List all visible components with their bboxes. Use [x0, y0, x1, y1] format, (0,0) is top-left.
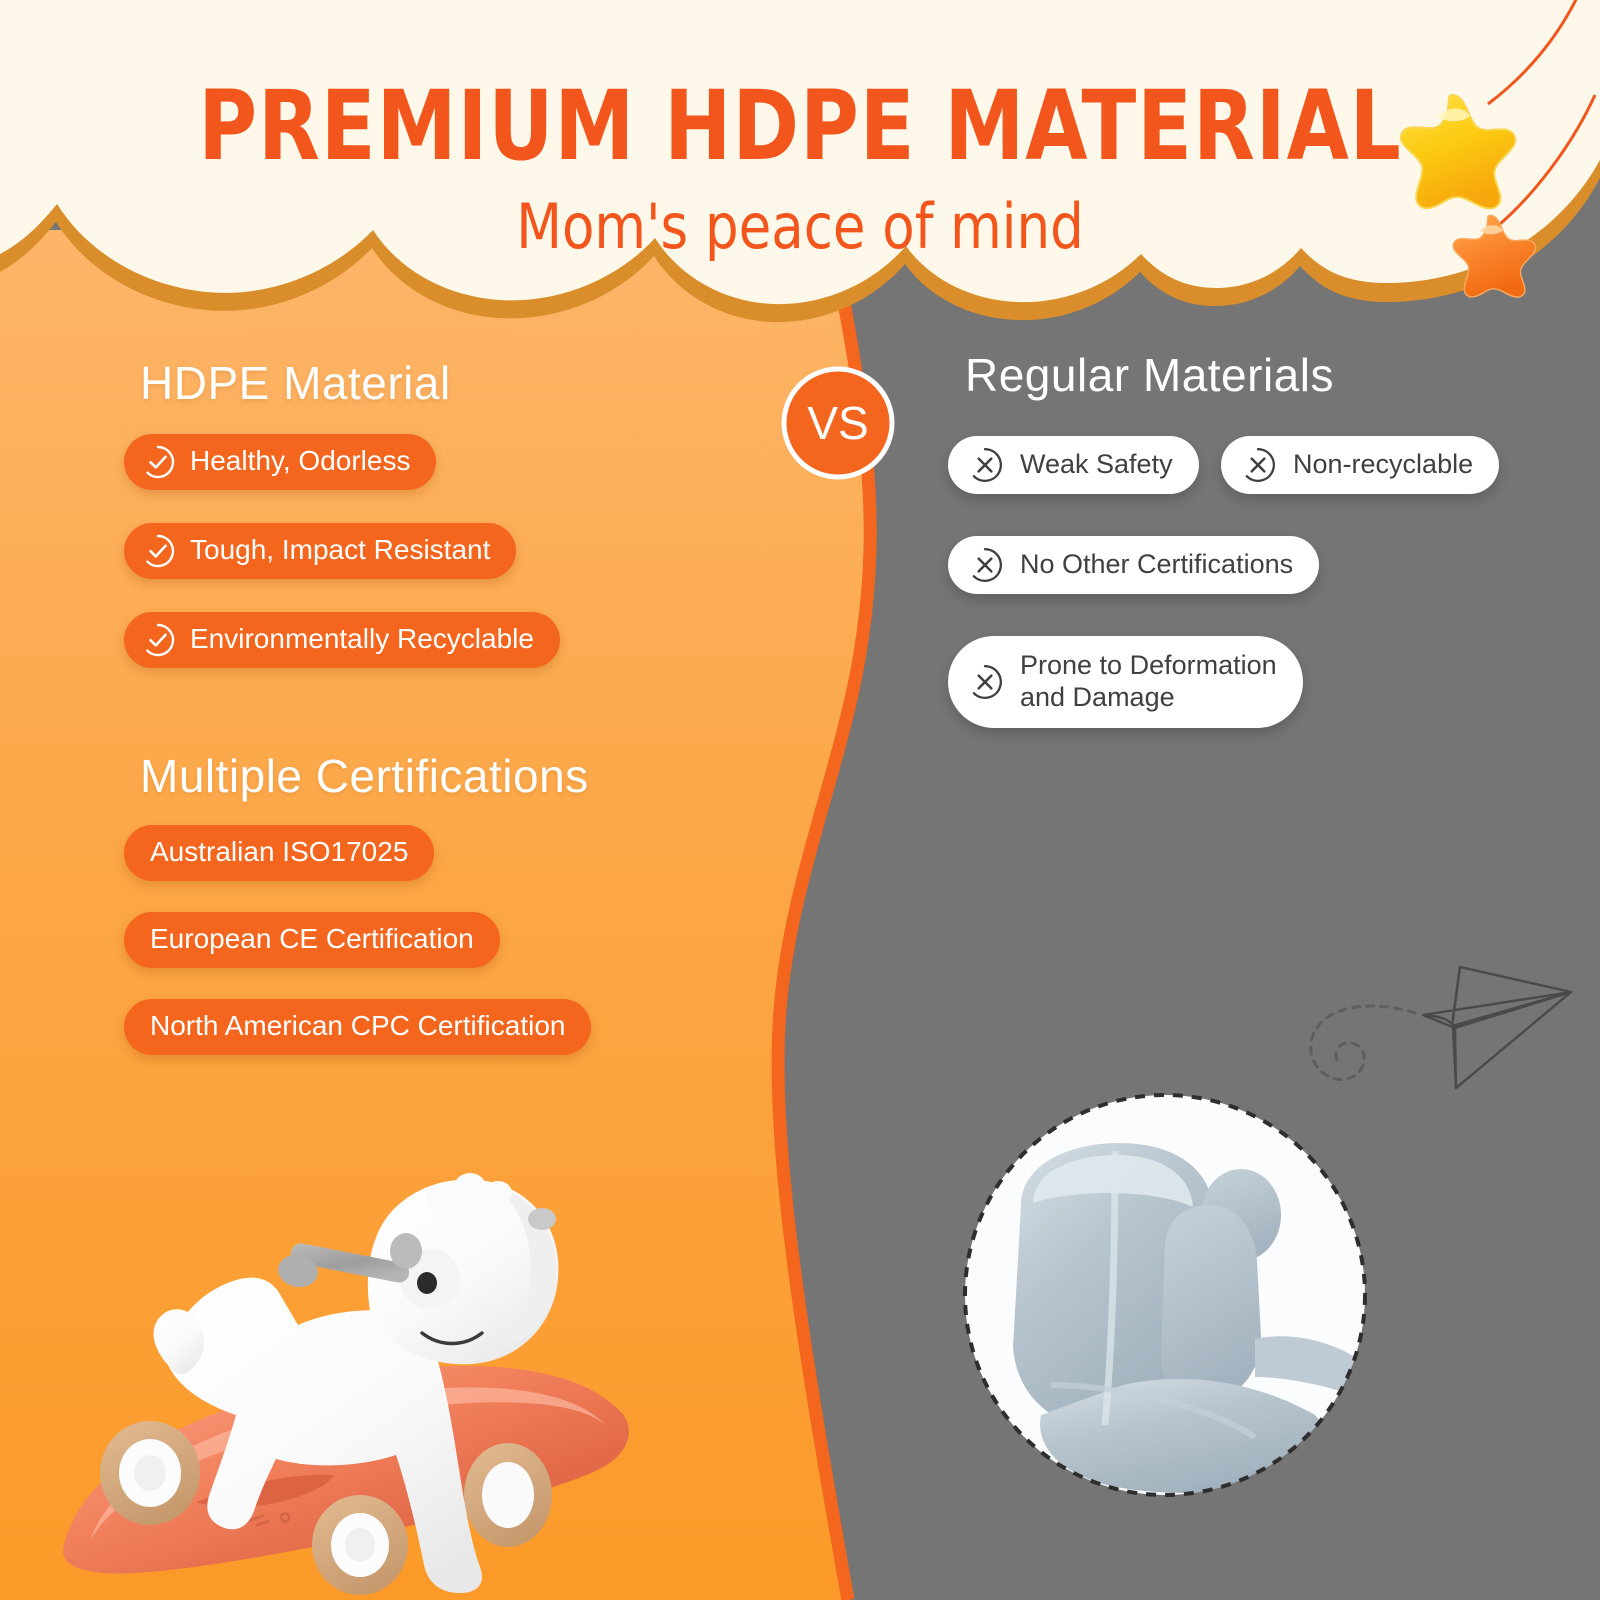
wheel [312, 1495, 408, 1595]
check-circle-icon [140, 533, 176, 569]
list-item-certification[interactable]: European CE Certification [124, 912, 500, 968]
wheel [100, 1421, 200, 1525]
feature-label: Environmentally Recyclable [190, 625, 534, 653]
paper-plane-decoration [1255, 900, 1600, 1100]
feature-label: Tough, Impact Resistant [190, 536, 490, 564]
regular-product-photo [955, 1085, 1375, 1505]
regular-materials-heading: Regular Materials [965, 352, 1600, 398]
certification-label: Australian ISO17025 [150, 838, 408, 866]
drawback-label: No Other Certifications [1020, 549, 1293, 581]
page-subtitle: Mom's peace of mind [40, 196, 1560, 258]
feature-label: Healthy, Odorless [190, 447, 410, 475]
hdpe-column: HDPE Material Healthy, Odorless [0, 360, 760, 1086]
check-circle-icon [140, 444, 176, 480]
header-text-block: PREMIUM HDPE MATERIAL Mom's peace of min… [0, 0, 1600, 300]
list-item-drawback[interactable]: Non-recyclable [1221, 436, 1499, 494]
list-item-drawback[interactable]: Prone to Deformation and Damage [948, 636, 1303, 728]
list-item-feature[interactable]: Healthy, Odorless [124, 434, 436, 490]
x-circle-icon [966, 663, 1004, 701]
hdpe-product-photo [40, 1075, 680, 1600]
hdpe-feature-list: Healthy, Odorless Tough, Impact Resistan… [0, 434, 760, 701]
drawback-label: Prone to Deformation [1020, 650, 1277, 682]
list-item-feature[interactable]: Environmentally Recyclable [124, 612, 560, 668]
drawback-label-line2: and Damage [1020, 682, 1277, 714]
regular-materials-column: Regular Materials Weak Safety [930, 352, 1600, 770]
handle-bar [275, 1233, 422, 1291]
page-title: PREMIUM HDPE MATERIAL [56, 78, 1544, 174]
vs-badge-label: VS [807, 397, 868, 449]
certification-label: North American CPC Certification [150, 1012, 565, 1040]
x-circle-icon [966, 546, 1004, 584]
certifications-heading: Multiple Certifications [140, 753, 760, 799]
drawback-label: Weak Safety [1020, 449, 1173, 481]
paper-plane-icon [1423, 967, 1571, 1088]
hdpe-material-heading: HDPE Material [140, 360, 760, 406]
drawback-label: Non-recyclable [1293, 449, 1473, 481]
certification-list: Australian ISO17025 European CE Certific… [0, 825, 760, 1086]
list-item-feature[interactable]: Tough, Impact Resistant [124, 523, 516, 579]
list-item-certification[interactable]: Australian ISO17025 [124, 825, 434, 881]
certification-label: European CE Certification [150, 925, 474, 953]
list-item-drawback[interactable]: No Other Certifications [948, 536, 1319, 594]
dashed-spiral-icon [1311, 1006, 1415, 1079]
x-circle-icon [1239, 446, 1277, 484]
drawback-list: Weak Safety Non-recyclable [930, 436, 1600, 770]
wheel [464, 1443, 552, 1547]
check-circle-icon [140, 622, 176, 658]
infographic-root: PREMIUM HDPE MATERIAL Mom's peace of min… [0, 0, 1600, 1600]
list-item-drawback[interactable]: Weak Safety [948, 436, 1199, 494]
list-item-certification[interactable]: North American CPC Certification [124, 999, 591, 1055]
vs-badge: VS [780, 365, 896, 481]
x-circle-icon [966, 446, 1004, 484]
